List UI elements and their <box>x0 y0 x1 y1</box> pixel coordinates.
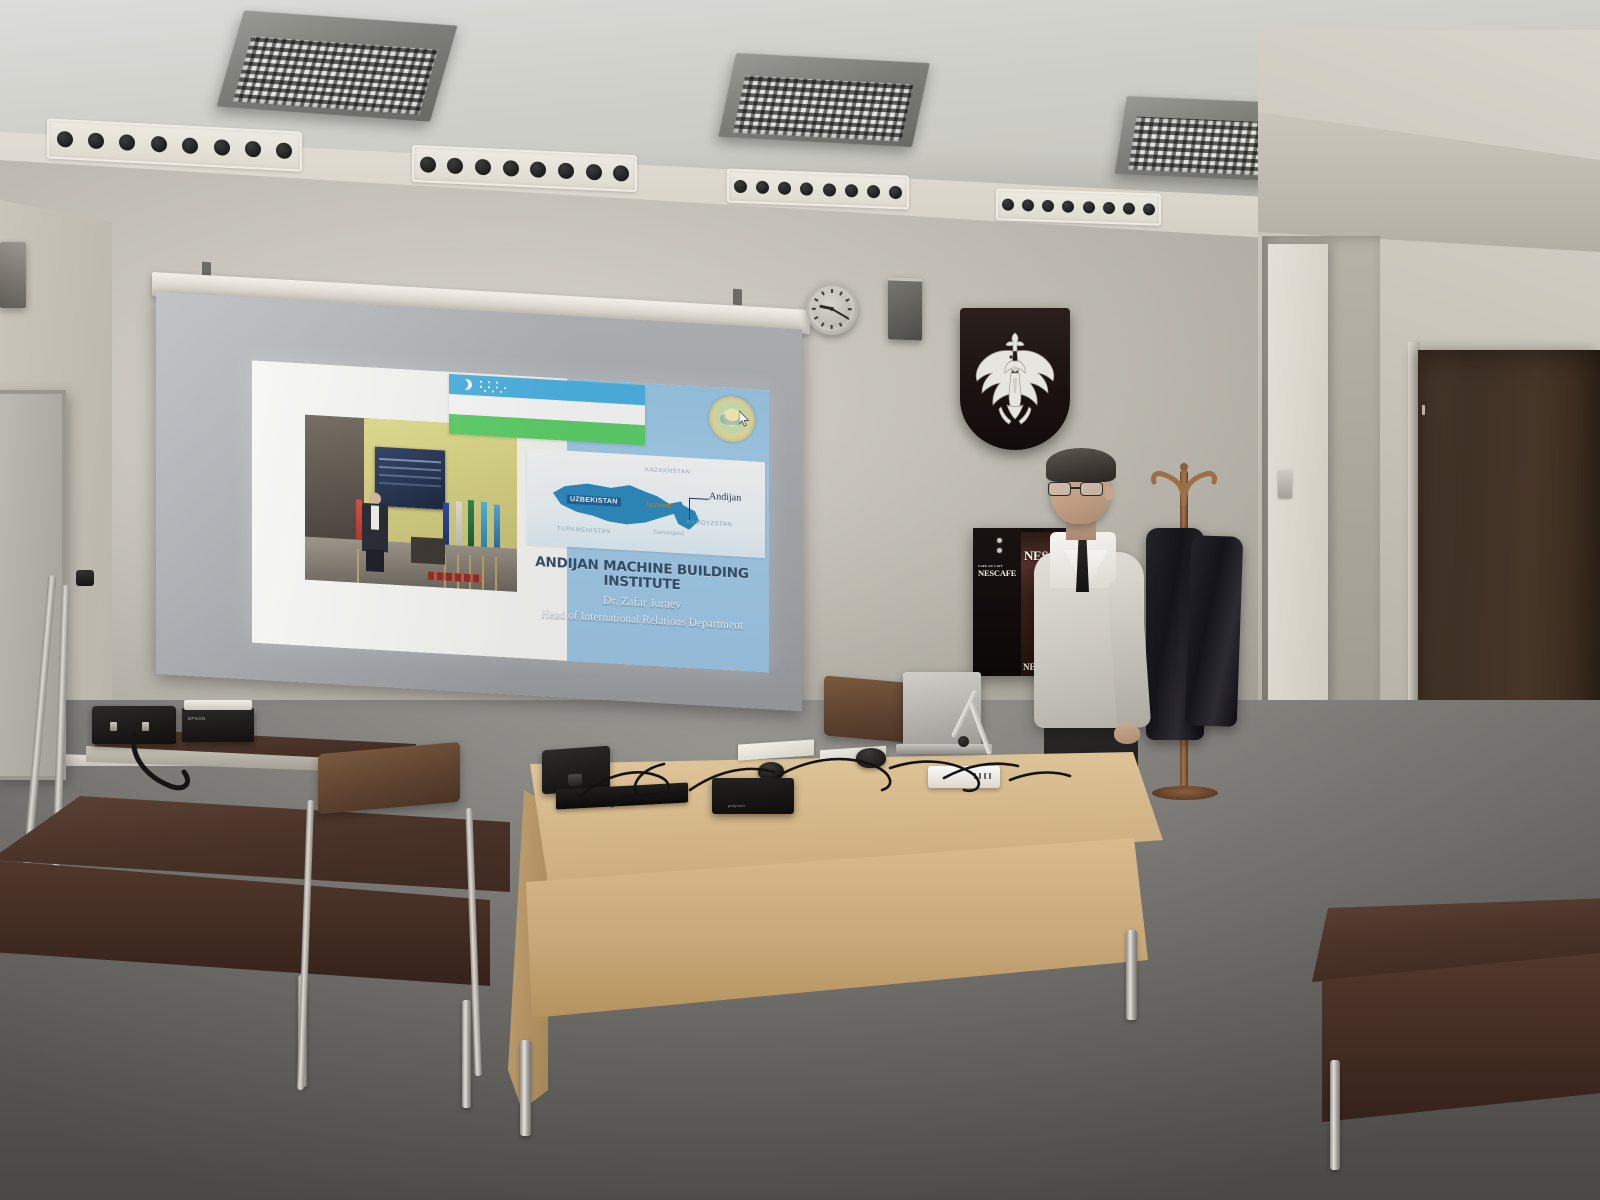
presenter-tie <box>1076 536 1089 592</box>
laptop-base <box>896 744 992 754</box>
printer-label: EPSON <box>188 716 206 721</box>
chair-left[interactable] <box>318 742 460 814</box>
wall-clock <box>806 283 858 335</box>
map-label-andijan: Andijan <box>709 491 741 504</box>
nescafe-wordmark-small: NESCAFE <box>978 568 1016 578</box>
soffit <box>1258 112 1600 252</box>
slide-photo <box>305 415 517 592</box>
bag-strap <box>120 730 250 810</box>
air-vent-icon <box>47 118 302 171</box>
desk-leg <box>462 1000 471 1108</box>
photo-flag <box>443 503 449 545</box>
air-vent-icon <box>996 188 1161 225</box>
conference-unit[interactable]: polycom <box>712 778 794 814</box>
room-door[interactable] <box>1418 350 1600 910</box>
slide-presenter-role: Head of International Relations Departme… <box>515 607 769 635</box>
slide-map: KAZAKHSTAN UZBEKISTAN TURKMENISTAN KYRGY… <box>527 448 765 558</box>
wall-speaker-right <box>888 277 922 340</box>
map-label-turkmenistan: TURKMENISTAN <box>557 526 611 535</box>
camera-arm-joint-icon <box>958 736 969 747</box>
whiteboard-knob-icon <box>76 570 94 586</box>
presenter-sweater <box>1034 552 1144 728</box>
map-label-samarqand: Samarqand <box>653 530 684 538</box>
photo-display-screen <box>375 447 445 510</box>
polish-eagle-coat-of-arms-icon <box>960 308 1070 450</box>
conference-unit-label: polycom <box>728 803 745 808</box>
air-vent-icon <box>412 145 637 192</box>
photo-flag <box>494 505 500 548</box>
wall-pillar <box>1268 244 1328 804</box>
wall-speaker-left <box>0 242 26 308</box>
uzbekistan-flag-icon <box>449 374 645 445</box>
nescafe-logo-small-icon: CAFE AU LAIT NESCAFE <box>978 564 1016 578</box>
wall-alcove <box>1262 236 1380 796</box>
map-label-uzbekistan: UZBEKISTAN <box>567 495 621 507</box>
map-label-kazakhstan: KAZAKHSTAN <box>645 467 691 476</box>
computer-mouse[interactable] <box>856 748 886 768</box>
whiteboard[interactable] <box>0 390 66 780</box>
projection-screen[interactable]: KAZAKHSTAN UZBEKISTAN TURKMENISTAN KYRGY… <box>156 292 802 711</box>
map-label-kyrgyzstan: KYRGYZSTAN <box>687 520 732 529</box>
photo-flag <box>356 500 362 540</box>
laptop[interactable] <box>903 672 981 748</box>
ceiling-light-icon <box>718 53 930 147</box>
presenter-hand <box>1114 724 1140 744</box>
ceiling-light-icon <box>1114 96 1307 182</box>
presenter-shirt <box>1050 532 1116 588</box>
slide-photo-pane <box>252 361 567 661</box>
photo-flag <box>481 502 487 547</box>
presenter-arm <box>1107 577 1151 729</box>
photo-flag <box>456 501 462 545</box>
eyeglasses-icon <box>1048 482 1106 496</box>
map-label-tashkent: Tashkent <box>645 501 671 510</box>
presentation-slide: KAZAKHSTAN UZBEKISTAN TURKMENISTAN KYRGY… <box>252 361 769 673</box>
hanging-coat <box>1185 535 1244 727</box>
slide-presenter-name: Dr. Zafar Juraev <box>517 588 767 617</box>
presenter <box>1030 452 1162 800</box>
photo-person <box>362 492 388 571</box>
connection-hub[interactable] <box>928 766 1000 788</box>
screen-bracket <box>733 289 742 306</box>
papers <box>738 739 814 760</box>
slide-institute-title: ANDIJAN MACHINE BUILDING INSTITUTE <box>517 554 767 597</box>
desk-leg <box>520 1040 531 1136</box>
desk-leg <box>1126 930 1137 1020</box>
right-desk-modesty-panel <box>1322 952 1600 1122</box>
power-socket-icon[interactable] <box>1278 470 1292 498</box>
desk-leg <box>1330 1060 1340 1170</box>
vending-control-panel[interactable]: CAFE AU LAIT NESCAFE <box>973 528 1021 676</box>
air-vent-icon <box>727 169 909 210</box>
photo-flag <box>468 500 474 546</box>
mouse-pointer-icon <box>739 411 750 428</box>
ceiling-light-icon <box>216 10 457 121</box>
conference-room-scene: KAZAKHSTAN UZBEKISTAN TURKMENISTAN KYRGY… <box>0 0 1600 1200</box>
